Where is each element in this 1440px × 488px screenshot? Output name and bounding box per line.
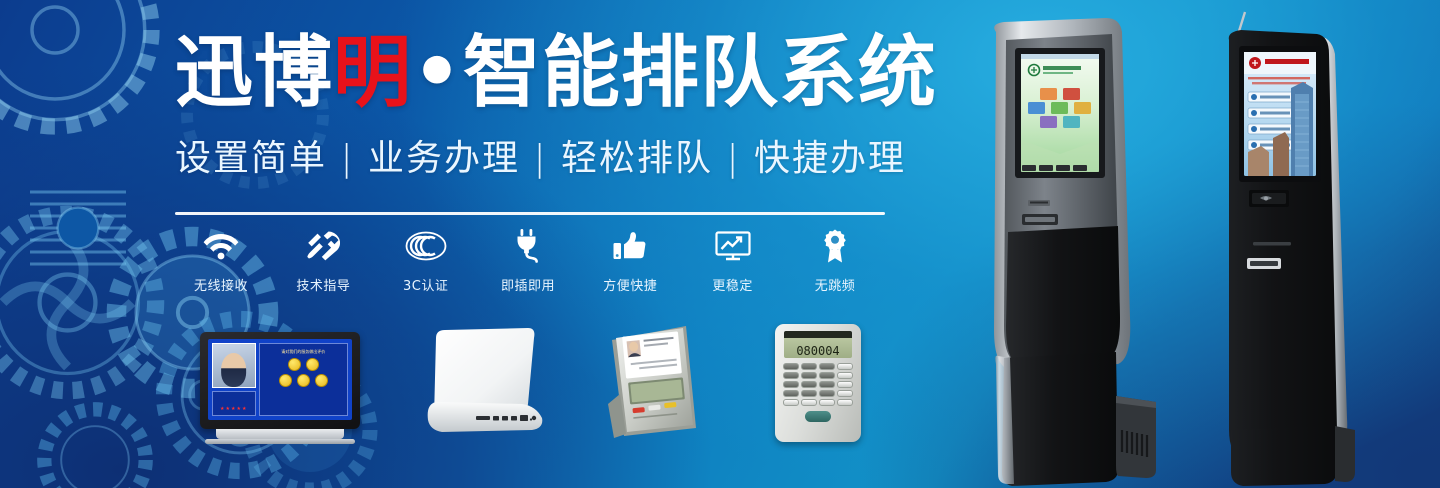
wifi-icon (203, 226, 239, 266)
keypad-keys (783, 363, 853, 406)
calling-keypad: 080004 (775, 324, 861, 444)
keypad-key[interactable] (801, 399, 817, 406)
feature-list: 无线接收 技术指导 3C认证 (178, 226, 878, 294)
host-device-body (418, 326, 548, 441)
keypad-key[interactable] (783, 372, 799, 379)
keypad-key[interactable] (783, 363, 799, 370)
feature-label: 即插即用 (501, 275, 555, 294)
feature-label: 方便快捷 (603, 275, 657, 294)
title-part-1: 迅博 (175, 28, 333, 118)
feature-item-plug-and-play: 即插即用 (485, 226, 571, 294)
keypad-key[interactable] (837, 372, 853, 379)
product-showcase: ★★★★★ 请对我们的服务做出评价 (0, 318, 900, 468)
feature-item-3c-certification: 3C认证 (383, 226, 469, 294)
feature-label: 更稳定 (712, 275, 753, 294)
ccc-certification-icon (405, 226, 447, 266)
keypad-key[interactable] (801, 363, 817, 370)
evaluator-body (600, 320, 720, 445)
gear-icon (0, 0, 185, 145)
keypad-key[interactable] (819, 363, 835, 370)
title-part-2: 智能排队系统 (463, 28, 937, 118)
feature-label: 3C认证 (403, 275, 448, 294)
keypad-key[interactable] (801, 381, 817, 388)
keypad-key[interactable] (783, 399, 799, 406)
divider (175, 212, 885, 215)
title-highlight: 明 (333, 28, 412, 118)
keypad-body: 080004 (775, 324, 861, 442)
keypad-key[interactable] (783, 390, 799, 397)
keypad-enter-button[interactable] (805, 411, 831, 422)
desktop-evaluator (600, 320, 720, 445)
monitor-stand (216, 429, 344, 439)
keypad-key[interactable] (819, 399, 835, 406)
feature-label: 技术指导 (296, 275, 350, 294)
monitor-base (205, 439, 355, 444)
lcd-number: 080004 (796, 345, 839, 357)
tools-icon (306, 226, 340, 266)
power-plug-icon (513, 226, 543, 266)
circuit-board-icon (18, 168, 138, 288)
keypad-key[interactable] (801, 390, 817, 397)
smiley-row (288, 358, 319, 371)
award-ribbon-icon (822, 226, 848, 266)
keypad-key[interactable] (837, 399, 853, 406)
keypad-key[interactable] (837, 363, 853, 370)
keypad-key[interactable] (801, 372, 817, 379)
smiley-face-icon (315, 374, 328, 387)
evaluation-monitor: ★★★★★ 请对我们的服务做出评价 (200, 332, 360, 444)
feature-label: 无线接收 (194, 275, 248, 294)
smiley-face-icon (306, 358, 319, 371)
keypad-key[interactable] (837, 390, 853, 397)
staff-photo (212, 343, 256, 388)
monitor-chart-icon (715, 226, 751, 266)
feature-item-wireless: 无线接收 (178, 226, 264, 294)
kiosk-a-body (960, 18, 1160, 488)
queue-kiosk-icbc (1195, 10, 1385, 488)
queue-kiosk-agricultural-bank (960, 18, 1160, 488)
keypad-lcd: 080004 (784, 331, 852, 358)
evaluation-caption: 请对我们的服务做出评价 (281, 349, 325, 355)
feature-item-no-frequency-hopping: 无跳频 (792, 226, 878, 294)
keypad-key[interactable] (819, 372, 835, 379)
title-block: 迅博明•智能排队系统 设置简单 | 业务办理 | 轻松排队 | 快捷办理 (175, 34, 895, 181)
monitor-bezel: ★★★★★ 请对我们的服务做出评价 (200, 332, 360, 429)
title-separator: • (412, 28, 463, 118)
evaluation-panel: 请对我们的服务做出评价 (259, 343, 348, 416)
rating-stars: ★★★★★ (220, 406, 247, 412)
monitor-left-panel: ★★★★★ (212, 343, 256, 416)
subtitle: 设置简单 | 业务办理 | 轻松排队 | 快捷办理 (175, 129, 895, 181)
feature-label: 无跳频 (815, 275, 856, 294)
white-host-controller (418, 326, 548, 441)
staff-info-panel: ★★★★★ (212, 391, 256, 416)
keypad-key[interactable] (819, 381, 835, 388)
keypad-key[interactable] (783, 381, 799, 388)
keypad-key[interactable] (819, 390, 835, 397)
thumbs-up-icon (613, 226, 647, 266)
printer-slot (1253, 242, 1291, 246)
card-reader (1249, 190, 1289, 207)
smiley-face-icon (297, 374, 310, 387)
smiley-face-icon (279, 374, 292, 387)
smiley-face-icon (288, 358, 301, 371)
feature-item-technical-guidance: 技术指导 (280, 226, 366, 294)
smiley-row (279, 374, 328, 387)
feature-item-convenient: 方便快捷 (587, 226, 673, 294)
feature-item-more-stable: 更稳定 (690, 226, 776, 294)
page-title: 迅博明•智能排队系统 (175, 34, 895, 112)
monitor-screen: ★★★★★ 请对我们的服务做出评价 (208, 339, 352, 420)
kiosk-b-body (1195, 10, 1385, 488)
promo-banner: 迅博明•智能排队系统 设置简单 | 业务办理 | 轻松排队 | 快捷办理 无线接… (0, 0, 1440, 488)
keypad-key[interactable] (837, 381, 853, 388)
